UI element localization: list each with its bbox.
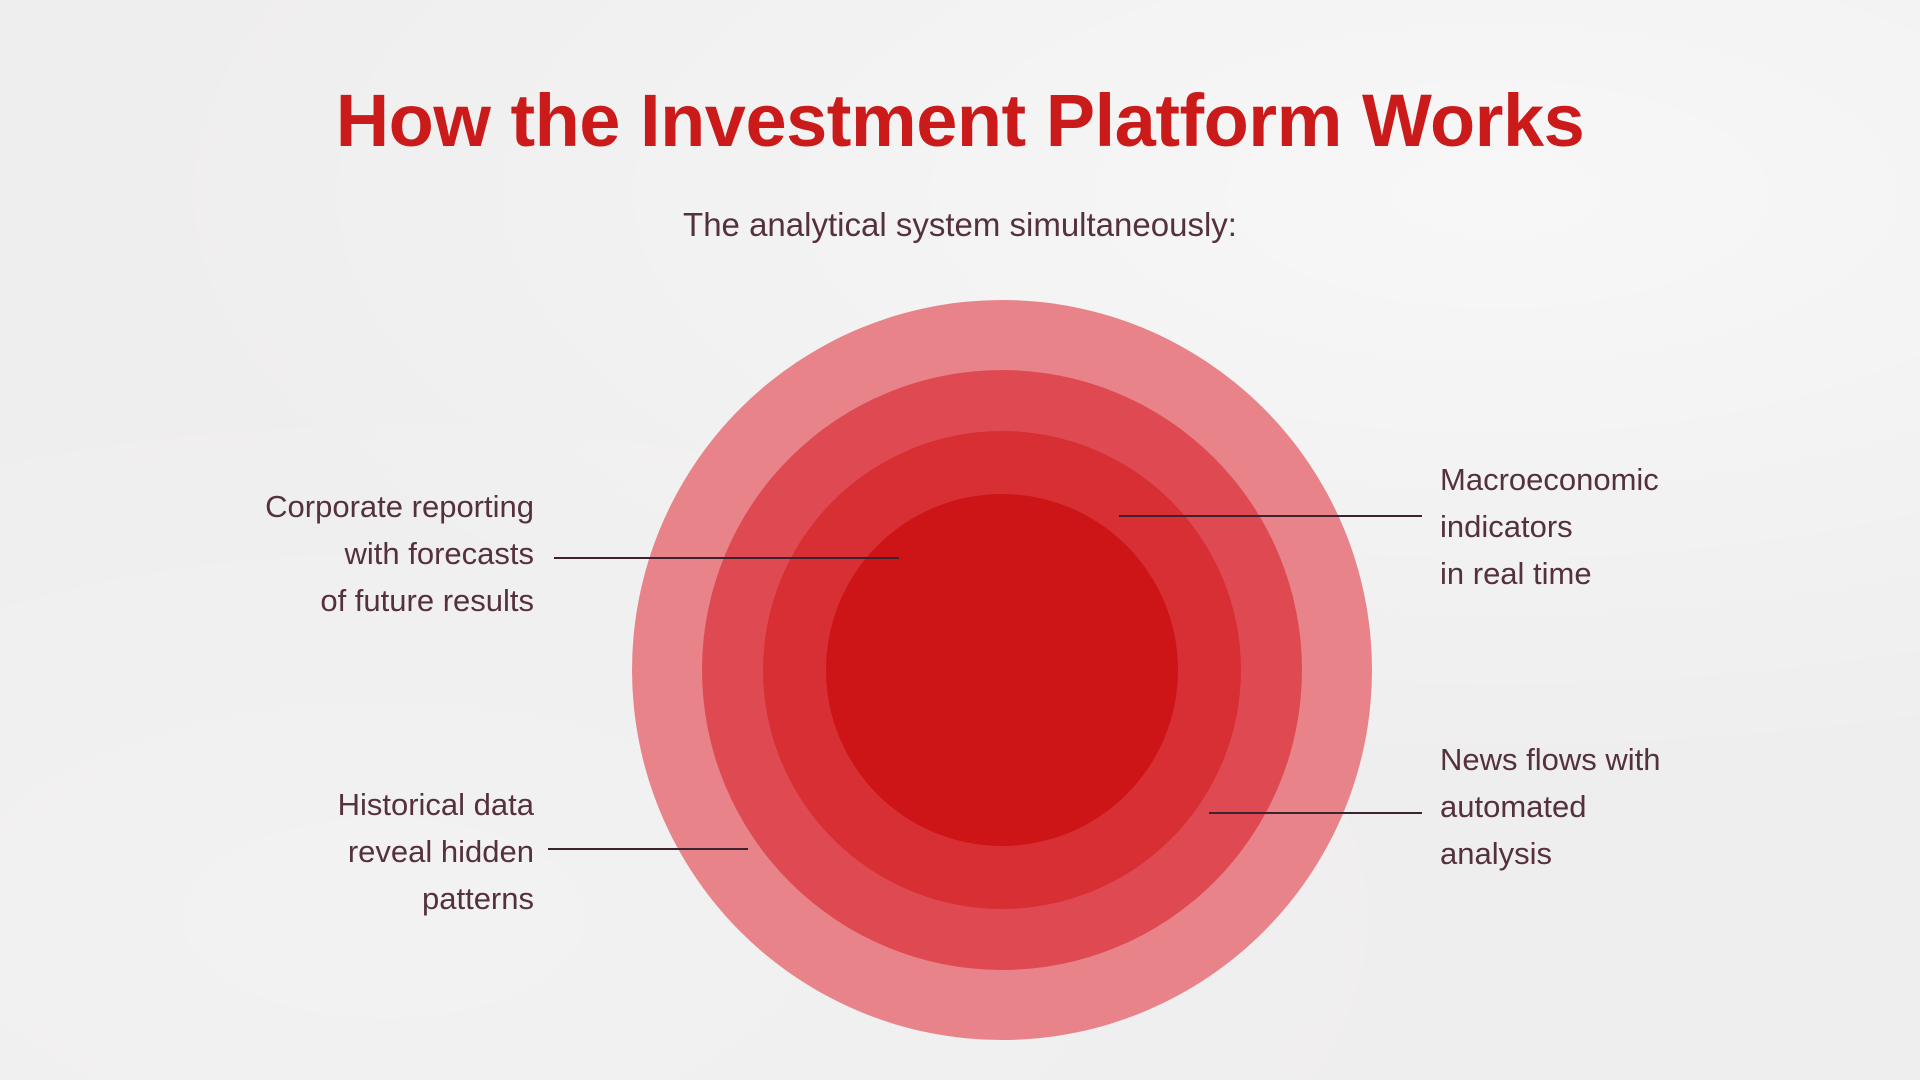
infographic-canvas: How the Investment Platform Works The an… <box>0 0 1920 1080</box>
concentric-ring-diagram <box>632 300 1372 1040</box>
page-title: How the Investment Platform Works <box>0 84 1920 158</box>
callout-label-corporate-reporting: Corporate reporting with forecasts of fu… <box>94 483 534 624</box>
connector-line-macroeconomic-indicators <box>1119 515 1422 517</box>
connector-line-historical-data <box>548 848 748 850</box>
inner-core-circle <box>826 494 1178 846</box>
callout-label-news-flows: News flows with automated analysis <box>1440 736 1860 877</box>
callout-label-historical-data: Historical data reveal hidden patterns <box>94 781 534 922</box>
page-subtitle: The analytical system simultaneously: <box>0 208 1920 241</box>
connector-line-corporate-reporting <box>554 557 899 559</box>
callout-label-macroeconomic-indicators: Macroeconomic indicators in real time <box>1440 456 1860 597</box>
connector-line-news-flows <box>1209 812 1422 814</box>
